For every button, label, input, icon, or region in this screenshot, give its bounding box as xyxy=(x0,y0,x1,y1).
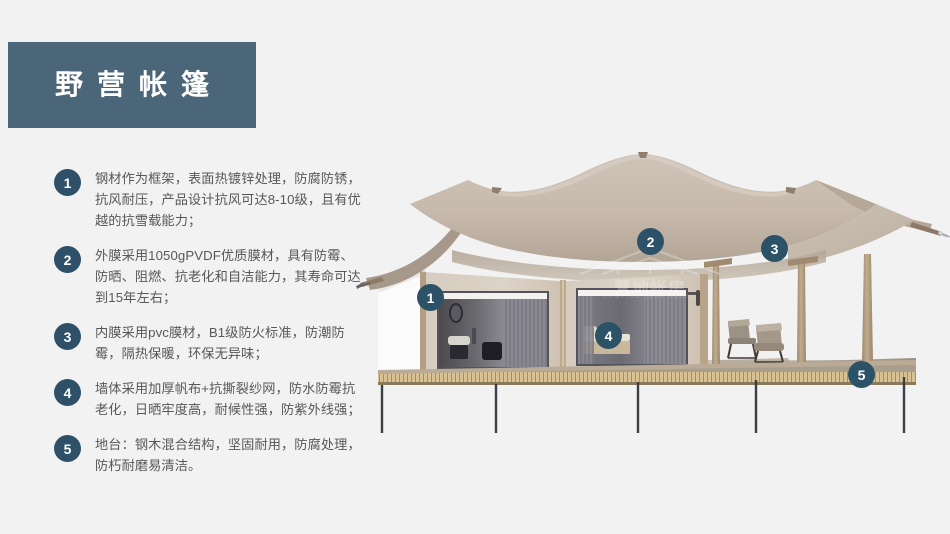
feature-list: 1 钢材作为框架，表面热镀锌处理，防腐防锈，抗风耐压，产品设计抗风可达8-10级… xyxy=(54,168,366,476)
lounge-chair-left xyxy=(728,319,756,358)
lounge-chair-right xyxy=(754,323,784,362)
list-item: 2 外膜采用1050gPVDF优质膜材，具有防霉、防晒、阻燃、抗老化和自洁能力，… xyxy=(54,245,366,308)
steel-support-legs xyxy=(382,377,904,433)
callout-badge-1[interactable]: 1 xyxy=(417,284,444,311)
outer-membrane-roof xyxy=(366,152,932,290)
window-right xyxy=(576,288,700,366)
page-title-banner: 野营帐篷 xyxy=(8,42,256,128)
feature-badge-3: 3 xyxy=(54,323,81,350)
feature-badge-1: 1 xyxy=(54,169,81,196)
callout-badge-4[interactable]: 4 xyxy=(595,322,622,349)
feature-text-5: 地台：钢木混合结构，坚固耐用，防腐处理，防朽耐磨易清洁。 xyxy=(95,434,366,476)
feature-text-4: 墙体采用加厚帆布+抗撕裂纱网，防水防霉抗老化，日晒牢度高，耐候性强，防紫外线强； xyxy=(95,378,366,420)
list-item: 4 墙体采用加厚帆布+抗撕裂纱网，防水防霉抗老化，日晒牢度高，耐候性强，防紫外线… xyxy=(54,378,366,420)
feature-text-2: 外膜采用1050gPVDF优质膜材，具有防霉、防晒、阻燃、抗老化和自洁能力，其寿… xyxy=(95,245,366,308)
feature-badge-4: 4 xyxy=(54,379,81,406)
feature-text-1: 钢材作为框架，表面热镀锌处理，防腐防锈，抗风耐压，产品设计抗风可达8-10级，且… xyxy=(95,168,366,231)
slide-canvas: 野营帐篷 1 钢材作为框架，表面热镀锌处理，防腐防锈，抗风耐压，产品设计抗风可达… xyxy=(0,0,950,534)
callout-badge-5[interactable]: 5 xyxy=(848,361,875,388)
tent-illustration xyxy=(356,150,950,440)
wall-panel-assembly xyxy=(420,271,708,373)
callout-badge-2[interactable]: 2 xyxy=(637,228,664,255)
list-item: 3 内膜采用pvc膜材，B1级防火标准，防潮防霉，隔热保暖，环保无异味； xyxy=(54,322,366,364)
page-title: 野营帐篷 xyxy=(41,71,223,99)
feature-text-3: 内膜采用pvc膜材，B1级防火标准，防潮防霉，隔热保暖，环保无异味； xyxy=(95,322,366,364)
callout-badge-3[interactable]: 3 xyxy=(761,235,788,262)
window-left xyxy=(437,291,549,369)
list-item: 5 地台：钢木混合结构，坚固耐用，防腐处理，防朽耐磨易清洁。 xyxy=(54,434,366,476)
feature-badge-2: 2 xyxy=(54,246,81,273)
feature-badge-5: 5 xyxy=(54,435,81,462)
list-item: 1 钢材作为框架，表面热镀锌处理，防腐防锈，抗风耐压，产品设计抗风可达8-10级… xyxy=(54,168,366,231)
